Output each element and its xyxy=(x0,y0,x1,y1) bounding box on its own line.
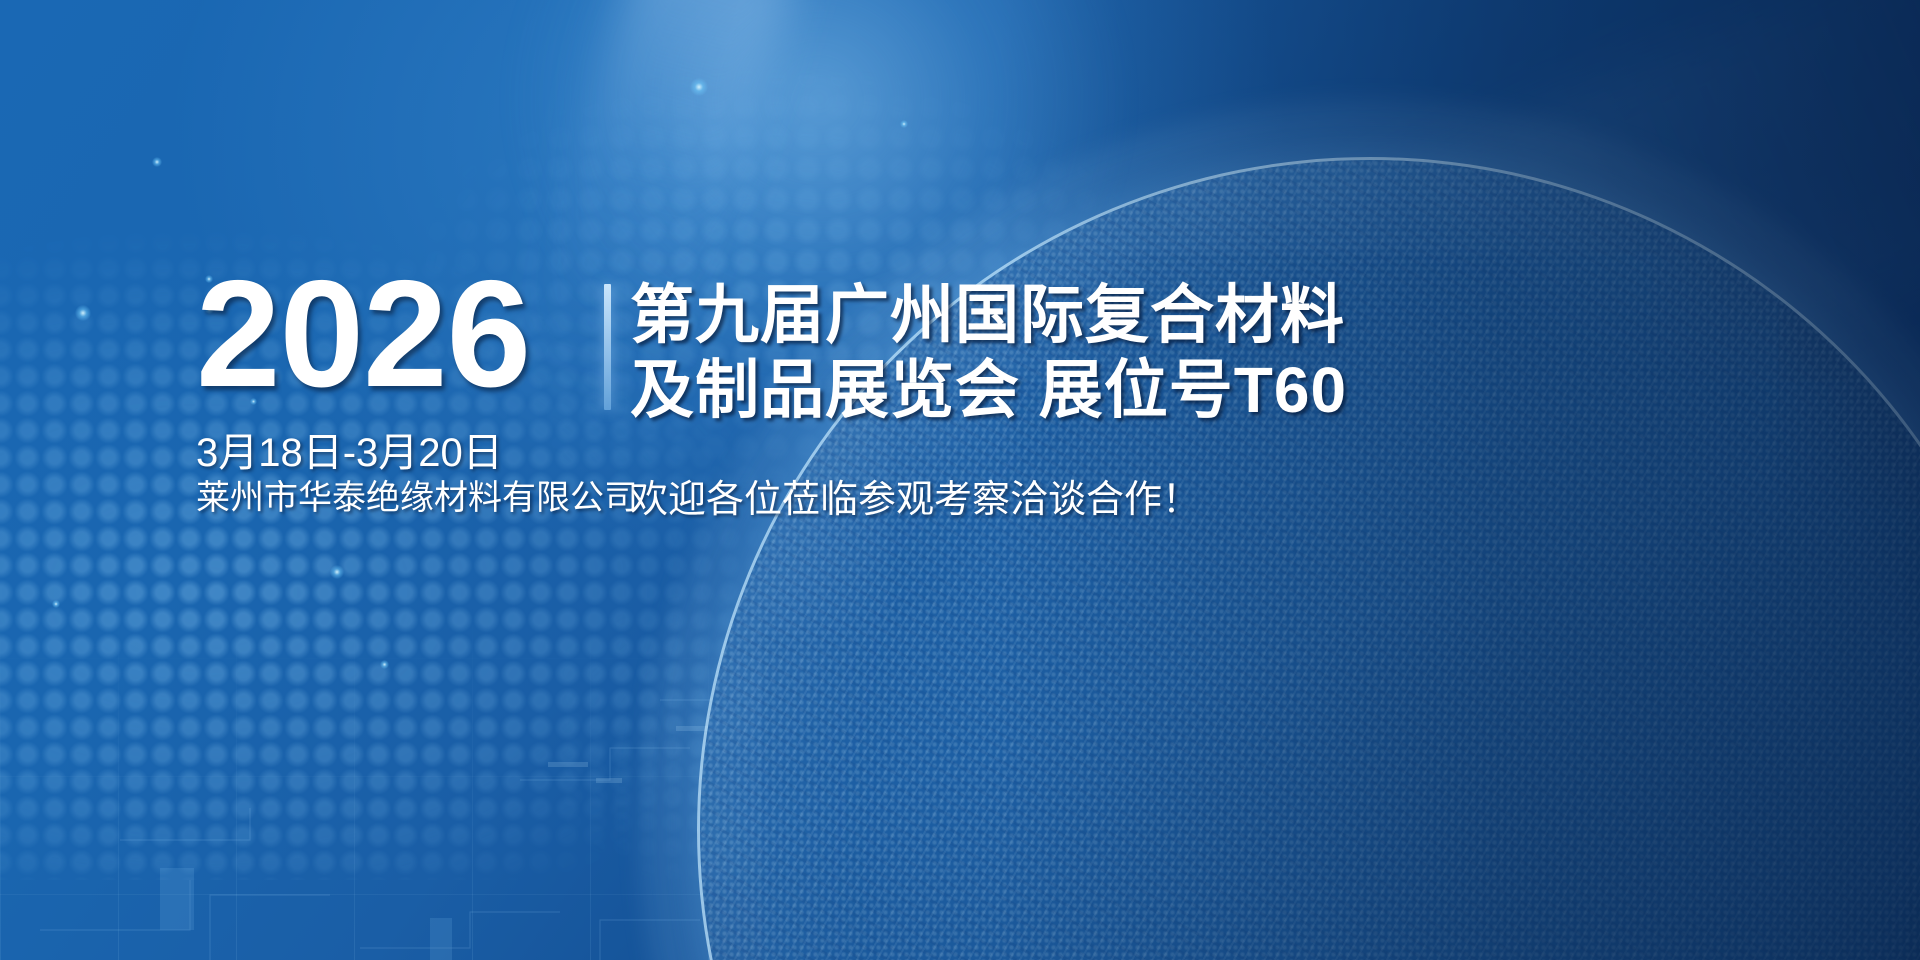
event-title: 第九届广州国际复合材料 及制品展览会 展位号T60 xyxy=(630,278,1810,428)
welcome-message: 欢迎各位莅临参观考察洽谈合作！ xyxy=(630,468,1200,523)
year-block: 2026 3月18日-3月20日 xyxy=(196,262,596,478)
exhibition-banner: 2026 3月18日-3月20日 第九届广州国际复合材料 及制品展览会 展位号T… xyxy=(0,0,1920,960)
vertical-divider xyxy=(604,284,611,410)
event-title-line-2: 及制品展览会 展位号T60 xyxy=(630,353,1810,428)
company-name: 莱州市华泰绝缘材料有限公司 xyxy=(196,470,638,519)
banner-content: 2026 3月18日-3月20日 第九届广州国际复合材料 及制品展览会 展位号T… xyxy=(0,0,1920,960)
event-title-line-1: 第九届广州国际复合材料 xyxy=(630,278,1810,353)
year-text: 2026 xyxy=(196,262,596,408)
